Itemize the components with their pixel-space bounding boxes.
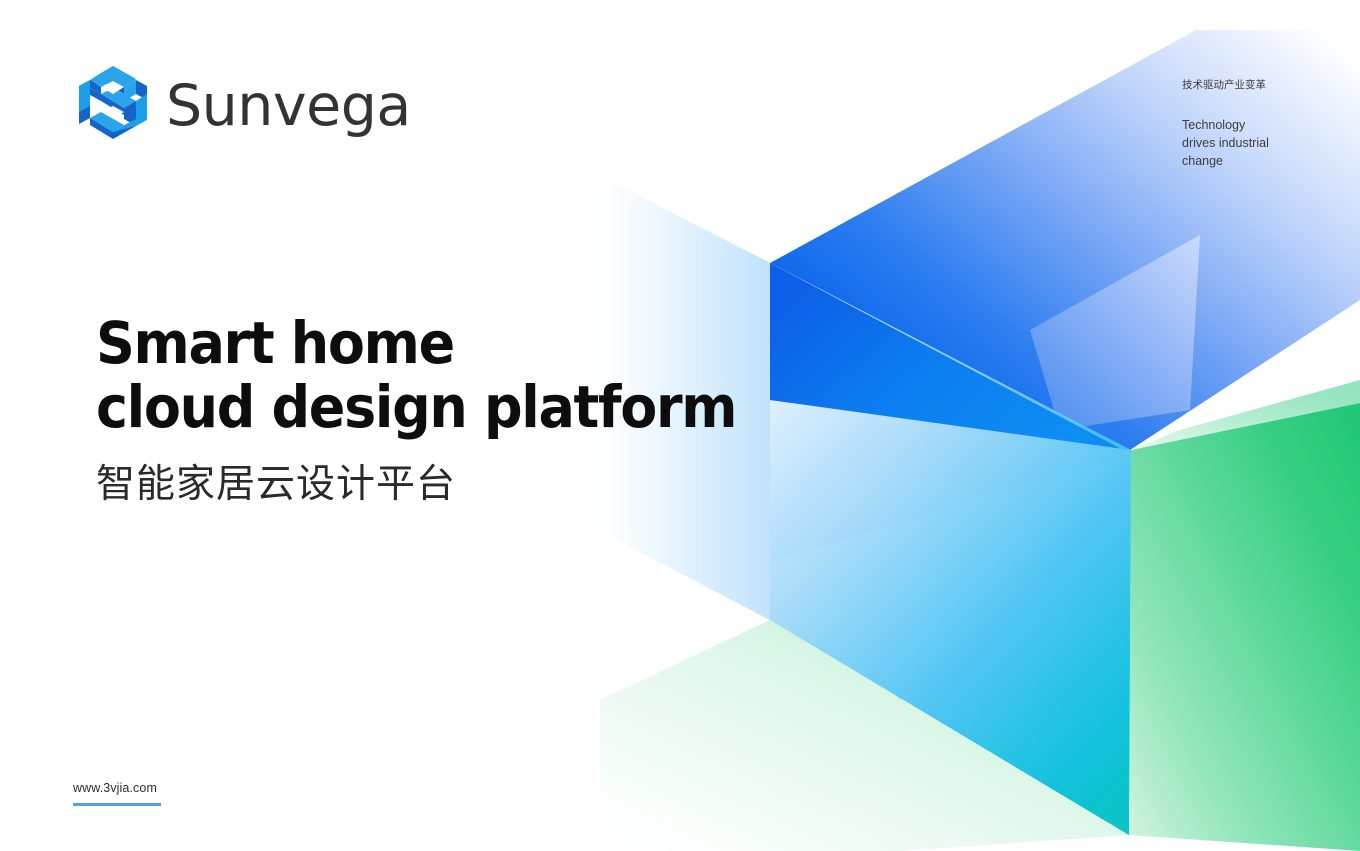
tagline-english-line1: Technology xyxy=(1182,116,1302,134)
tagline-chinese: 技术驱动产业变革 xyxy=(1182,78,1302,93)
footer-website-url[interactable]: www.3vjia.com xyxy=(73,780,161,796)
headline-block: Smart home cloud design platform 智能家居云设计… xyxy=(96,312,784,508)
tagline-english-line2: drives industrial xyxy=(1182,134,1302,152)
tagline-block: 技术驱动产业变革 Technology drives industrial ch… xyxy=(1182,78,1302,170)
brand-logo-lockup[interactable]: Sunvega xyxy=(74,60,411,146)
sunvega-logo-icon xyxy=(74,60,152,146)
tagline-english-line3: change xyxy=(1182,152,1302,170)
headline-line-2: cloud design platform xyxy=(96,376,736,440)
footer-accent-rule xyxy=(73,803,161,806)
brand-wordmark: Sunvega xyxy=(166,78,411,135)
tagline-english: Technology drives industrial change xyxy=(1182,116,1302,170)
headline-line-1: Smart home xyxy=(96,312,736,376)
subtitle-chinese: 智能家居云设计平台 xyxy=(96,462,784,509)
footer-block: www.3vjia.com xyxy=(73,780,161,806)
